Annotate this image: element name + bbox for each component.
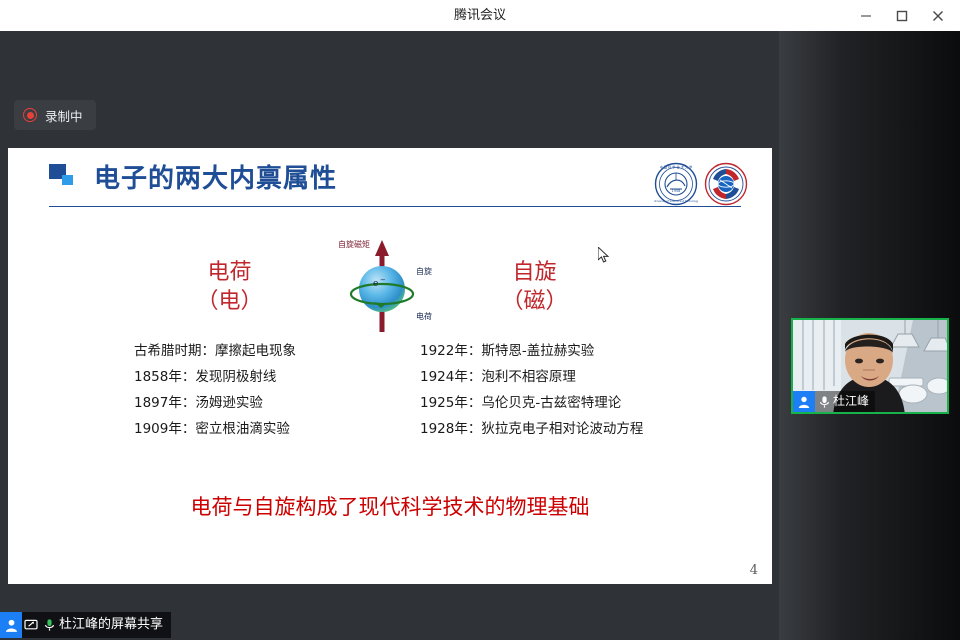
list-item: 1922年：斯特恩-盖拉赫实验	[420, 338, 643, 364]
label-charge: 电荷	[416, 311, 432, 321]
title-square-icon	[49, 164, 75, 188]
electron-diagram: e − 自旋磁矩 自旋 电荷	[320, 236, 444, 341]
institute-seal-logo	[704, 162, 748, 206]
svg-text:University of Science and Tech: University of Science and Technology	[654, 200, 698, 203]
tencent-meeting-window: 腾讯会议 录制中	[0, 0, 960, 640]
list-item: 1897年：汤姆逊实验	[134, 390, 296, 416]
maximize-button[interactable]	[884, 0, 920, 31]
heading-spin: 自旋 （磁）	[463, 258, 606, 316]
slide-conclusion: 电荷与自旋构成了现代科学技术的物理基础	[8, 491, 772, 521]
heading-charge-line2: （电）	[158, 287, 301, 316]
slide-page-number: 4	[750, 563, 758, 578]
electron-particle-label: e	[373, 279, 378, 289]
timeline-spin: 1922年：斯特恩-盖拉赫实验 1924年：泡利不相容原理 1925年：乌伦贝克…	[420, 338, 643, 442]
maximize-icon	[896, 10, 908, 22]
slide-header: 电子的两大内禀属性 1958 中 国 科 学	[8, 148, 772, 210]
recording-dot-icon	[23, 108, 37, 122]
list-item: 1858年：发现阴极射线	[134, 364, 296, 390]
screen-share-label-bar: 杜江峰的屏幕共享	[0, 612, 171, 638]
window-controls	[848, 0, 956, 31]
close-button[interactable]	[920, 0, 956, 31]
avatar-icon	[793, 391, 815, 412]
list-item: 1924年：泡利不相容原理	[420, 364, 643, 390]
title-bar: 腾讯会议	[0, 0, 960, 32]
participant-video-tile[interactable]: 杜江峰	[791, 318, 949, 414]
slide-title: 电子的两大内禀属性	[94, 158, 337, 195]
label-spin: 自旋	[416, 266, 432, 276]
heading-spin-line1: 自旋	[463, 258, 606, 287]
recording-label: 录制中	[45, 106, 83, 125]
slide-logos: 1958 中 国 科 学 技 术 大 学 University of Scien…	[654, 162, 748, 206]
screen-share-label: 杜江峰的屏幕共享	[59, 612, 163, 638]
minimize-icon	[860, 10, 872, 22]
recording-badge[interactable]: 录制中	[14, 100, 96, 130]
university-seal-logo: 1958 中 国 科 学 技 术 大 学 University of Scien…	[654, 162, 698, 206]
video-nameplate: 杜江峰	[793, 391, 875, 412]
svg-text:1958: 1958	[672, 189, 681, 193]
microphone-icon	[815, 391, 833, 412]
label-spin-magnetic-moment: 自旋磁矩	[338, 239, 370, 249]
list-item: 1928年：狄拉克电子相对论波动方程	[420, 416, 643, 442]
heading-spin-line2: （磁）	[463, 287, 606, 316]
microphone-icon	[40, 612, 58, 638]
mouse-cursor-icon	[598, 247, 610, 265]
list-item: 1925年：乌伦贝克-古兹密特理论	[420, 390, 643, 416]
window-title: 腾讯会议	[0, 0, 960, 31]
svg-text:中 国 科 学 技 术 大 学: 中 国 科 学 技 术 大 学	[660, 165, 693, 170]
meeting-stage: 录制中 电子的两大内禀属性	[0, 31, 960, 640]
participant-name: 杜江峰	[833, 391, 869, 412]
svg-text:−: −	[380, 276, 386, 284]
screen-share-icon	[22, 612, 40, 638]
close-icon	[932, 10, 944, 22]
title-divider	[49, 206, 741, 207]
timeline-charge: 古希腊时期：摩擦起电现象 1858年：发现阴极射线 1897年：汤姆逊实验 19…	[134, 338, 296, 442]
list-item: 古希腊时期：摩擦起电现象	[134, 338, 296, 364]
minimize-button[interactable]	[848, 0, 884, 31]
avatar-icon	[0, 612, 22, 638]
shared-slide: 电子的两大内禀属性 1958 中 国 科 学	[8, 148, 772, 584]
list-item: 1909年：密立根油滴实验	[134, 416, 296, 442]
heading-charge: 电荷 （电）	[158, 258, 301, 316]
heading-charge-line1: 电荷	[158, 258, 301, 287]
